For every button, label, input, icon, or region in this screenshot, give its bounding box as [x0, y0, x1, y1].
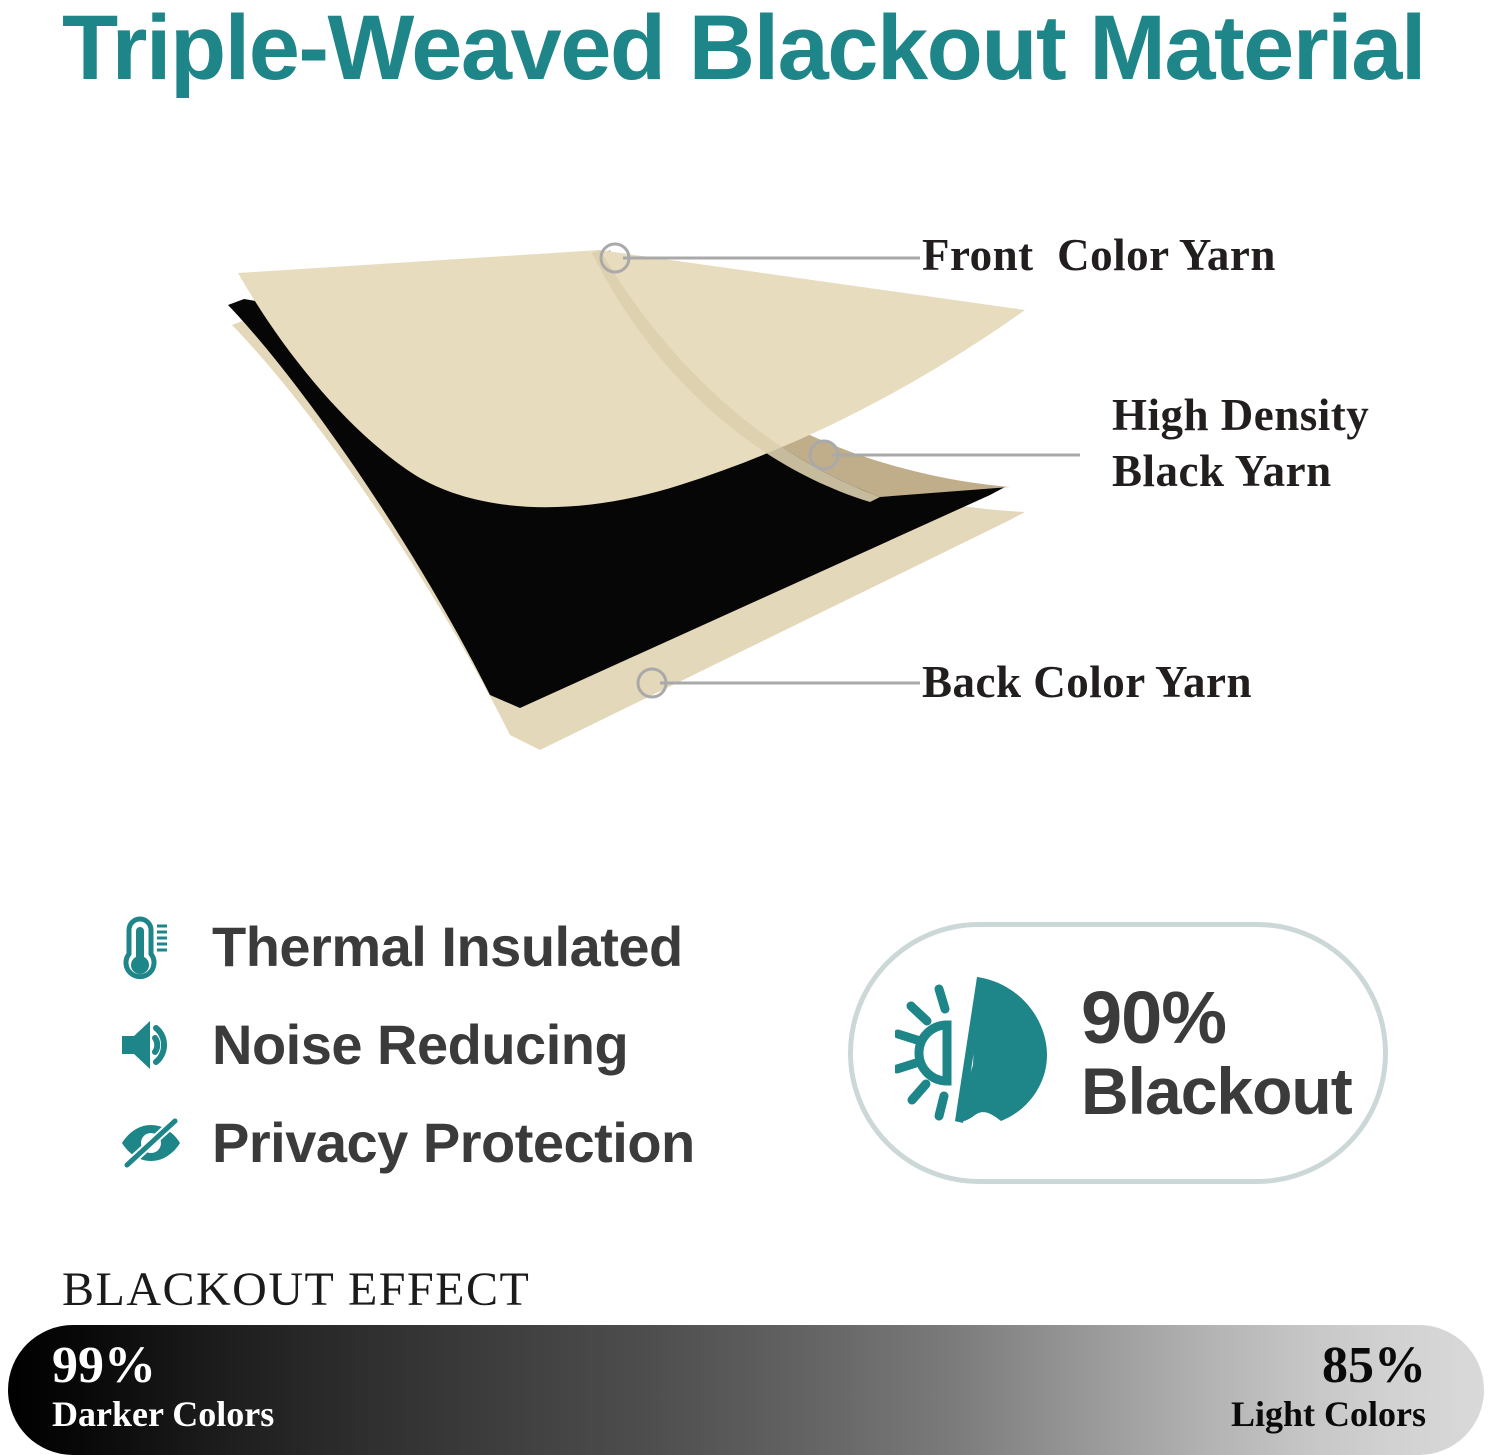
- speaker-sound-icon: [118, 1001, 190, 1089]
- stat-percent: 99%: [52, 1338, 274, 1394]
- callout-label-line-1: High Density: [1112, 387, 1369, 443]
- feature-label: Privacy Protection: [212, 1112, 695, 1174]
- callout-label-high-density-black-yarn: High Density Black Yarn: [1112, 387, 1369, 499]
- sun-behind-curtain-icon: [895, 973, 1065, 1133]
- feature-list: Thermal Insulated Noise Reducing Privacy…: [118, 898, 798, 1192]
- stat-percent: 85%: [1231, 1338, 1426, 1394]
- gradient-bar-stat-light-colors: 85% Light Colors: [1231, 1338, 1426, 1434]
- feature-label: Noise Reducing: [212, 1014, 628, 1076]
- feature-row-thermal-insulated: Thermal Insulated: [118, 898, 798, 996]
- blackout-percentage-badge: 90% Blackout: [848, 922, 1388, 1184]
- feature-row-noise-reducing: Noise Reducing: [118, 996, 798, 1094]
- page-title: Triple-Weaved Blackout Material: [62, 0, 1462, 100]
- callout-label-line-2: Black Yarn: [1112, 443, 1369, 499]
- blackout-effect-heading: BLACKOUT EFFECT: [62, 1264, 530, 1316]
- badge-percent: 90%: [1081, 980, 1352, 1056]
- feature-label: Thermal Insulated: [212, 916, 683, 978]
- stat-caption: Light Colors: [1231, 1394, 1426, 1434]
- callout-label-back-color-yarn: Back Color Yarn: [922, 655, 1252, 709]
- gradient-bar-stat-darker-colors: 99% Darker Colors: [52, 1338, 274, 1434]
- feature-row-privacy-protection: Privacy Protection: [118, 1094, 798, 1192]
- badge-label: Blackout: [1081, 1056, 1352, 1126]
- thermometer-icon: [118, 903, 190, 991]
- stat-caption: Darker Colors: [52, 1394, 274, 1434]
- eye-slash-icon: [118, 1099, 190, 1187]
- badge-text-block: 90% Blackout: [1081, 980, 1352, 1126]
- callout-label-front-color-yarn: Front Color Yarn: [922, 228, 1276, 282]
